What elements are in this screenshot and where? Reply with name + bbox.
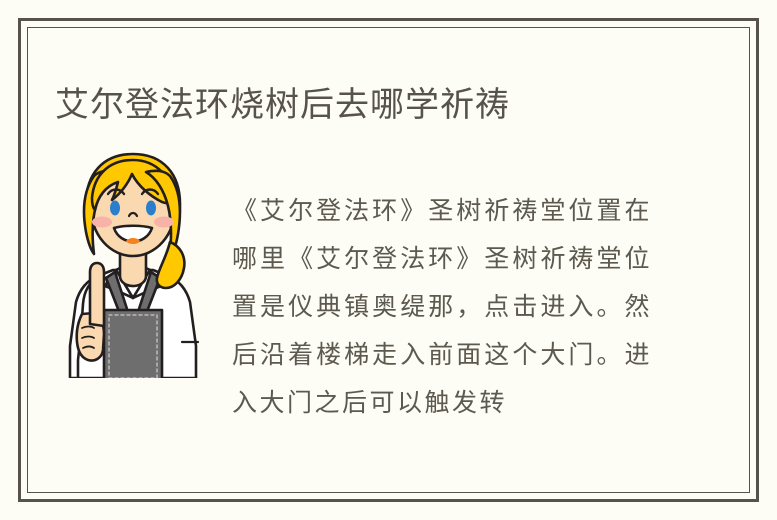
illustration-cartoon-girl (58, 146, 208, 378)
article-card: 艾尔登法环烧树后去哪学祈祷 (0, 0, 777, 520)
article-body-text: 《艾尔登法环》圣树祈祷堂位置在哪里《艾尔登法环》圣树祈祷堂位置是仪典镇奥缇那，点… (232, 187, 652, 427)
page-title: 艾尔登法环烧树后去哪学祈祷 (55, 81, 725, 129)
